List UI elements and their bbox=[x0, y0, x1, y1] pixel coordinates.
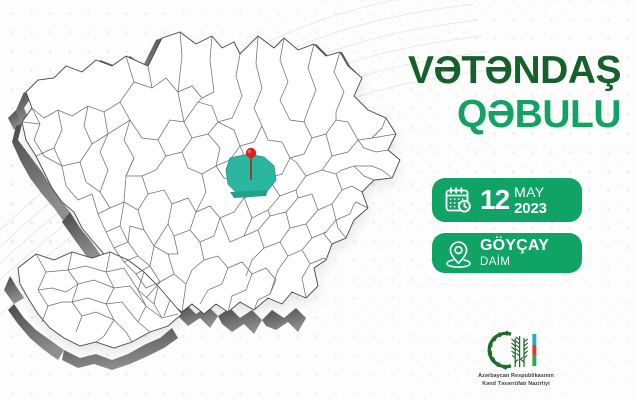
title-line-2: QƏBULU bbox=[396, 96, 621, 133]
date-month-year: MAY 2023 bbox=[514, 184, 547, 216]
wheat-stalks bbox=[512, 337, 528, 367]
page-title: VƏTƏNDAŞ QƏBULU bbox=[396, 52, 621, 134]
content-column: VƏTƏNDAŞ QƏBULU 12 MAY bbox=[396, 0, 637, 400]
location-text: GÖYÇAY DAİM bbox=[480, 238, 549, 269]
ministry-caption: Azərbaycan Respublikasının Kənd Təsərrüf… bbox=[478, 373, 554, 388]
azerbaijan-map[interactable] bbox=[0, 0, 416, 400]
date-day: 12 bbox=[480, 186, 509, 214]
ministry-emblem-icon bbox=[485, 330, 547, 370]
poster-canvas: VƏTƏNDAŞ QƏBULU 12 MAY bbox=[0, 0, 637, 400]
date-month: MAY bbox=[514, 185, 547, 199]
date-year: 2023 bbox=[514, 201, 547, 216]
map-svg bbox=[0, 0, 416, 400]
title-line-1: VƏTƏNDAŞ bbox=[396, 52, 621, 89]
location-note: DAİM bbox=[480, 257, 549, 269]
flag-bar-icon bbox=[532, 334, 536, 366]
ministry-logo: Azərbaycan Respublikasının Kənd Təsərrüf… bbox=[440, 330, 592, 388]
map-pin-icon bbox=[445, 239, 472, 268]
ministry-caption-line-1: Azərbaycan Respublikasının bbox=[478, 373, 554, 381]
location-city: GÖYÇAY bbox=[480, 238, 549, 254]
location-badge[interactable]: GÖYÇAY DAİM bbox=[432, 233, 582, 273]
date-badge[interactable]: 12 MAY 2023 bbox=[432, 178, 582, 222]
ministry-caption-line-2: Kənd Təsərrüfatı Nazirliyi bbox=[478, 381, 554, 389]
calendar-clock-icon bbox=[443, 185, 473, 215]
